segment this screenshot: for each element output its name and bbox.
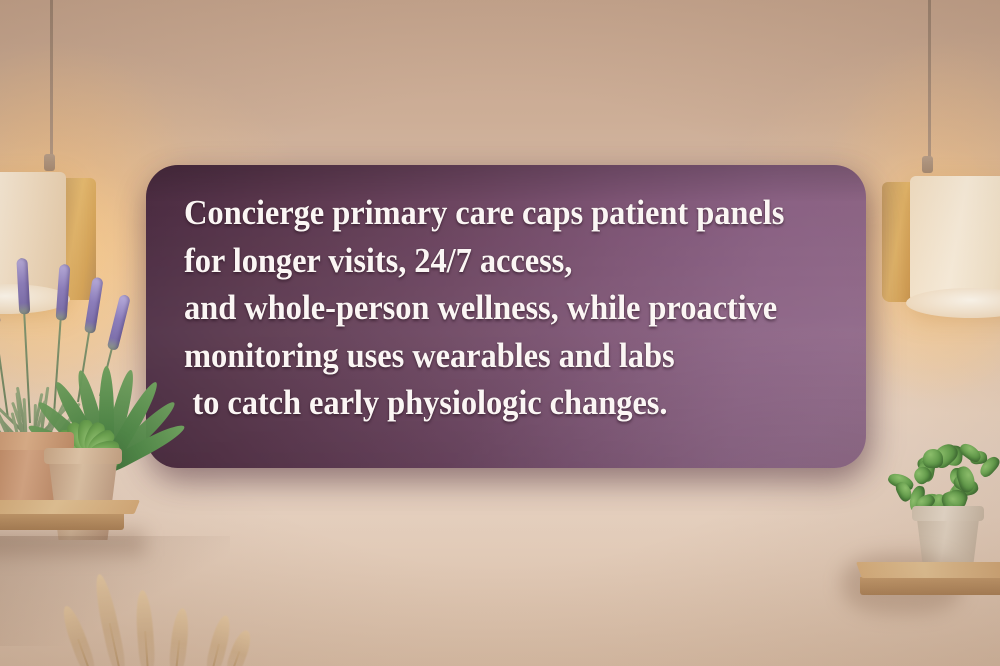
- scene-vignette: [0, 0, 1000, 666]
- room-scene: Concierge primary care caps patient pane…: [0, 0, 1000, 666]
